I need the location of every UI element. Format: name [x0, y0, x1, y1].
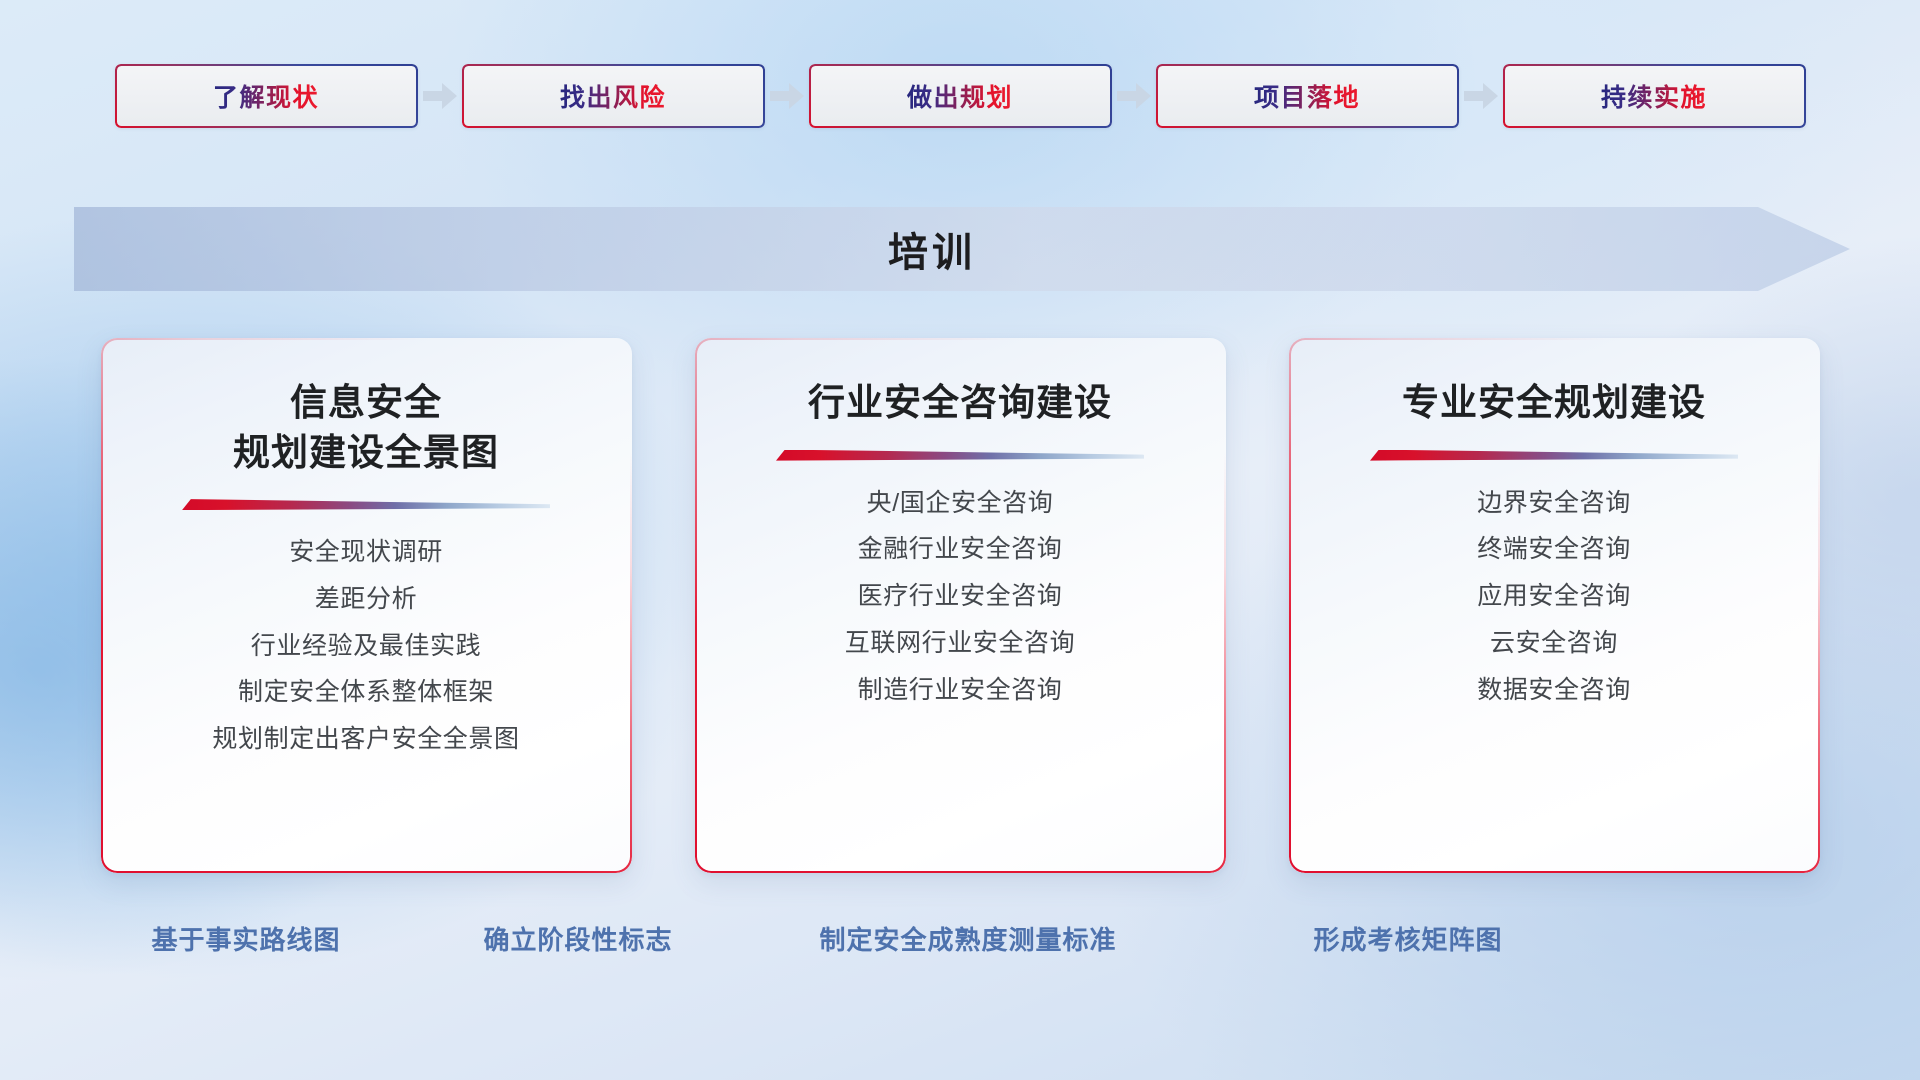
card-item-list: 安全现状调研 差距分析 行业经验及最佳实践 制定安全体系整体框架 规划制定出客户…: [131, 536, 602, 757]
card-divider: [182, 499, 550, 510]
list-item: 互联网行业安全咨询: [845, 627, 1075, 661]
step-label-5: 持续实施: [1601, 78, 1707, 114]
list-item: 终端安全咨询: [1477, 533, 1631, 567]
step-box-1[interactable]: 了解现状: [115, 64, 418, 128]
arrow-right-icon: [1459, 83, 1503, 109]
list-item: 行业经验及最佳实践: [251, 630, 481, 664]
step-label-4: 项目落地: [1254, 78, 1360, 114]
card-title-line: 行业安全咨询建设: [808, 378, 1112, 428]
list-item: 央/国企安全咨询: [867, 487, 1054, 521]
list-item: 数据安全咨询: [1477, 674, 1631, 708]
step-label-1: 了解现状: [213, 78, 319, 114]
caption-roadmap: 基于事实路线图: [151, 920, 340, 957]
list-item: 云安全咨询: [1490, 627, 1618, 661]
list-item: 金融行业安全咨询: [858, 533, 1063, 567]
process-step-row: 了解现状 找出风险 做出规划 项目落地: [0, 64, 1920, 128]
slide-canvas: 了解现状 找出风险 做出规划 项目落地: [0, 0, 1920, 1080]
step-box-2[interactable]: 找出风险: [462, 64, 765, 128]
step-box-4[interactable]: 项目落地: [1156, 64, 1459, 128]
arrow-right-icon: [765, 83, 809, 109]
card-divider: [776, 450, 1144, 461]
card-row: 信息安全 规划建设全景图 安全现状调研 差距分析 行业经验及最佳实践 制定安全体…: [0, 338, 1920, 873]
caption-milestone: 确立阶段性标志: [483, 920, 672, 957]
card-information-security-blueprint[interactable]: 信息安全 规划建设全景图 安全现状调研 差距分析 行业经验及最佳实践 制定安全体…: [101, 338, 632, 873]
step-label-3: 做出规划: [907, 78, 1013, 114]
card-industry-security-consulting[interactable]: 行业安全咨询建设 央/国企安全咨询 金融行业安全咨询 医疗行业安全咨询 互联网行…: [695, 338, 1226, 873]
list-item: 制定安全体系整体框架: [238, 676, 494, 710]
list-item: 安全现状调研: [289, 536, 443, 570]
list-item: 规划制定出客户安全全景图: [212, 723, 519, 757]
card-title: 专业安全规划建设: [1402, 378, 1706, 428]
card-title-line: 专业安全规划建设: [1402, 378, 1706, 428]
training-banner: 培训: [74, 207, 1850, 291]
card-title-line: 信息安全: [233, 378, 499, 428]
arrow-right-icon: [1112, 83, 1156, 109]
card-title: 行业安全咨询建设: [808, 378, 1112, 428]
banner-label: 培训: [74, 207, 1850, 291]
list-item: 应用安全咨询: [1477, 580, 1631, 614]
card-divider: [1370, 450, 1738, 461]
card-title: 信息安全 规划建设全景图: [233, 378, 499, 477]
arrow-right-icon: [418, 83, 462, 109]
caption-row: 基于事实路线图 确立阶段性标志 制定安全成熟度测量标准 形成考核矩阵图: [0, 920, 1920, 970]
card-item-list: 边界安全咨询 终端安全咨询 应用安全咨询 云安全咨询 数据安全咨询: [1319, 487, 1790, 708]
list-item: 差距分析: [315, 583, 417, 617]
step-box-3[interactable]: 做出规划: [809, 64, 1112, 128]
caption-maturity: 制定安全成熟度测量标准: [819, 920, 1116, 957]
list-item: 边界安全咨询: [1477, 487, 1631, 521]
list-item: 制造行业安全咨询: [858, 674, 1063, 708]
step-box-5[interactable]: 持续实施: [1503, 64, 1806, 128]
step-label-2: 找出风险: [560, 78, 666, 114]
card-item-list: 央/国企安全咨询 金融行业安全咨询 医疗行业安全咨询 互联网行业安全咨询 制造行…: [725, 487, 1196, 708]
list-item: 医疗行业安全咨询: [858, 580, 1063, 614]
card-professional-security-planning[interactable]: 专业安全规划建设 边界安全咨询 终端安全咨询 应用安全咨询 云安全咨询 数据安全…: [1289, 338, 1820, 873]
card-title-line: 规划建设全景图: [233, 428, 499, 478]
caption-matrix: 形成考核矩阵图: [1313, 920, 1502, 957]
